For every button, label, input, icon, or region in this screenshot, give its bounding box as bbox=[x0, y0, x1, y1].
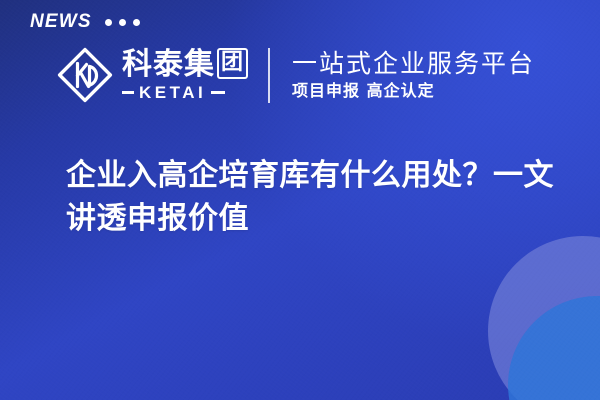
tagline-block: 一站式企业服务平台 项目申报 高企认定 bbox=[292, 46, 535, 104]
brand-name-en: KETAI bbox=[139, 84, 206, 101]
wordmark-rule-right-icon bbox=[211, 91, 225, 94]
brand-name-en-row: KETAI bbox=[122, 84, 248, 101]
brand-name-cn-boxed: 团 bbox=[217, 48, 248, 79]
tagline-sub: 项目申报 高企认定 bbox=[292, 82, 535, 100]
wordmark-rule-left-icon bbox=[122, 91, 134, 94]
headline-title: 企业入高企培育库有什么用处？一文讲透申报价值 bbox=[66, 155, 566, 240]
tagline-main: 一站式企业服务平台 bbox=[292, 50, 535, 78]
brand-band: 科泰集团 KETAI 一站式企业服务平台 项目申报 高企认定 bbox=[56, 44, 535, 106]
brand-wordmark: 科泰集团 KETAI bbox=[122, 46, 248, 104]
brand-name-cn: 科泰集团 bbox=[122, 49, 248, 80]
news-eyebrow: NEWS bbox=[30, 12, 140, 31]
news-label: NEWS bbox=[30, 12, 92, 31]
news-dots-icon bbox=[105, 17, 140, 26]
ketai-diamond-kd-logo-icon bbox=[56, 46, 114, 104]
brand-name-cn-main: 科泰集 bbox=[122, 50, 215, 80]
brand-divider bbox=[268, 48, 270, 103]
news-banner: NEWS 科泰集团 bbox=[0, 0, 600, 400]
